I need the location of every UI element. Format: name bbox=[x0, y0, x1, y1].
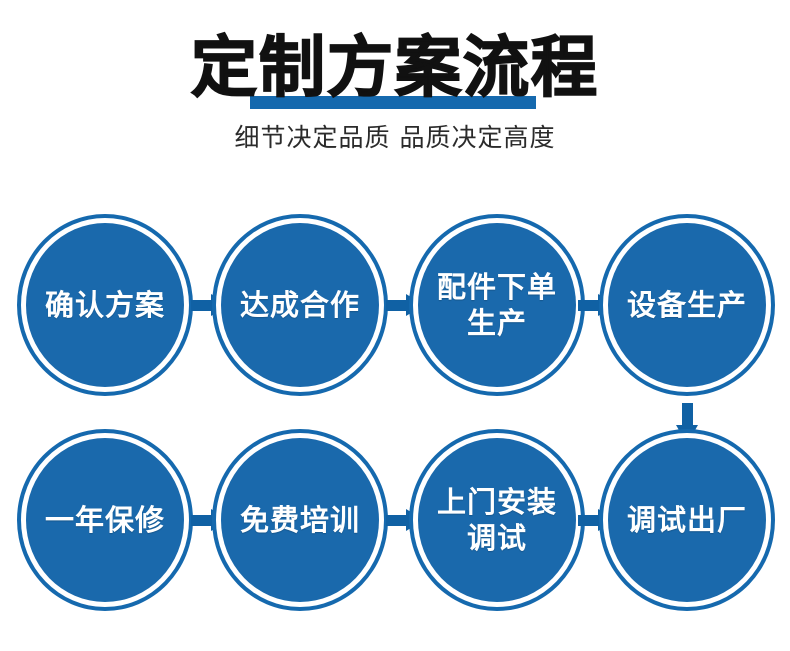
flow-node-onsite-installation-debug[interactable]: 上门安装 调试 bbox=[409, 429, 585, 611]
flow-node-label: 设备生产 bbox=[621, 287, 753, 323]
page-subtitle: 细节决定品质 品质决定高度 bbox=[0, 122, 790, 154]
flow-node-equipment-production[interactable]: 设备生产 bbox=[599, 214, 775, 396]
flow-node-body: 配件下单 生产 bbox=[418, 223, 576, 387]
flow-node-confirm-plan[interactable]: 确认方案 bbox=[17, 214, 193, 396]
flow-node-body: 调试出厂 bbox=[608, 438, 766, 602]
arrow-shaft bbox=[578, 300, 600, 311]
flow-row-bottom: 一年保修 免费培训 上门安装 调试 bbox=[0, 429, 790, 629]
flow-node-parts-order-production[interactable]: 配件下单 生产 bbox=[409, 214, 585, 396]
flow-node-label: 免费培训 bbox=[234, 502, 366, 538]
arrow-shaft bbox=[386, 300, 408, 311]
arrow-shaft bbox=[191, 300, 213, 311]
flow-node-body: 达成合作 bbox=[221, 223, 379, 387]
flow-node-body: 免费培训 bbox=[221, 438, 379, 602]
arrow-shaft bbox=[682, 403, 693, 427]
page-title-wrapper: 定制方案流程 bbox=[0, 28, 790, 110]
arrow-shaft bbox=[578, 515, 600, 526]
process-flow: 确认方案 达成合作 配件下单 生产 bbox=[0, 196, 790, 651]
flow-node-label: 确认方案 bbox=[39, 287, 171, 323]
page-title: 定制方案流程 bbox=[191, 28, 599, 108]
flow-node-label: 一年保修 bbox=[39, 502, 171, 538]
flow-node-body: 确认方案 bbox=[26, 223, 184, 387]
flow-node-one-year-warranty[interactable]: 一年保修 bbox=[17, 429, 193, 611]
flow-node-body: 一年保修 bbox=[26, 438, 184, 602]
flow-node-label: 上门安装 调试 bbox=[431, 484, 563, 556]
flow-node-label: 调试出厂 bbox=[621, 502, 753, 538]
flow-node-body: 上门安装 调试 bbox=[418, 438, 576, 602]
flow-node-body: 设备生产 bbox=[608, 223, 766, 387]
flow-diagram-page: 定制方案流程 细节决定品质 品质决定高度 确认方案 达成合作 bbox=[0, 0, 790, 651]
flow-node-debug-ship[interactable]: 调试出厂 bbox=[599, 429, 775, 611]
flow-node-free-training[interactable]: 免费培训 bbox=[212, 429, 388, 611]
arrow-shaft bbox=[386, 515, 408, 526]
flow-row-top: 确认方案 达成合作 配件下单 生产 bbox=[0, 214, 790, 414]
flow-node-label: 达成合作 bbox=[234, 287, 366, 323]
flow-node-label: 配件下单 生产 bbox=[431, 269, 563, 341]
arrow-shaft bbox=[191, 515, 213, 526]
flow-node-reach-cooperation[interactable]: 达成合作 bbox=[212, 214, 388, 396]
header: 定制方案流程 细节决定品质 品质决定高度 bbox=[0, 0, 790, 180]
